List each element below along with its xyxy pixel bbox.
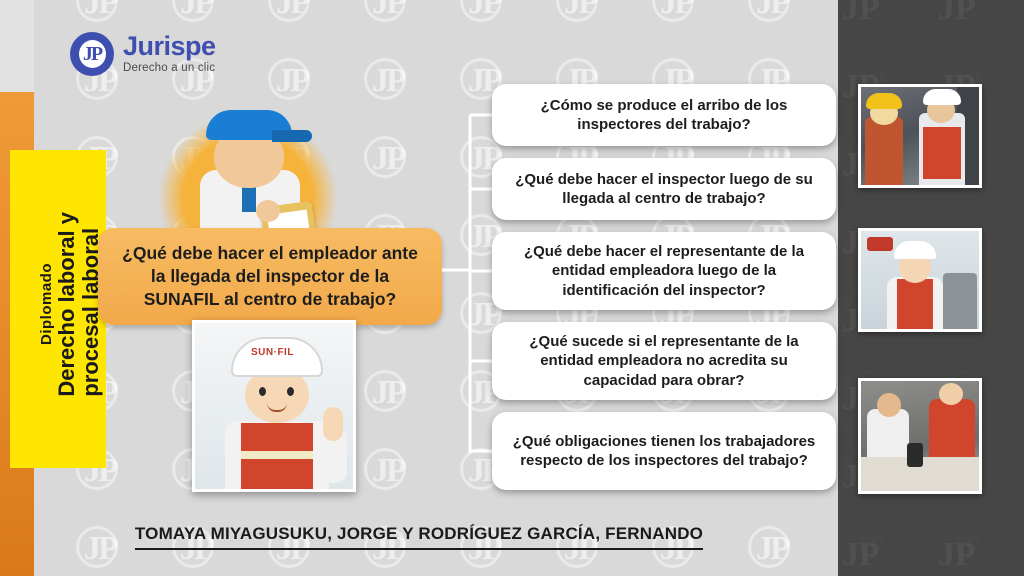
branch-box-1: ¿Cómo se produce el arribo de los inspec…: [492, 84, 836, 146]
photo-inspector-illustration: [858, 228, 982, 332]
brand-tagline: Derecho a un clic: [123, 63, 216, 75]
course-label-kicker: Diplomado: [38, 263, 55, 355]
center-photo-inspector: SUN·FIL: [192, 320, 356, 492]
branch-box-2: ¿Qué debe hacer el inspector luego de su…: [492, 158, 836, 220]
illustration-hand: [256, 200, 280, 222]
course-label-title: Derecho laboral yprocesal laboral: [55, 212, 103, 407]
course-line-1: Derecho laboral y: [54, 212, 79, 397]
branch-box-3: ¿Qué debe hacer el representante de la e…: [492, 232, 836, 310]
course-label: Derecho laboral yprocesal laboral Diplom…: [10, 150, 106, 468]
main-question-box: ¿Qué debe hacer el empleador ante la lle…: [98, 228, 442, 325]
illustration-cap-brim: [272, 130, 312, 142]
jurispe-monogram-icon: JP: [70, 32, 114, 76]
brand-name: Jurispe: [123, 33, 216, 60]
branch-box-4: ¿Qué sucede si el representante de la en…: [492, 322, 836, 400]
monogram-text: JP: [70, 32, 114, 76]
left-strip-top-cover: [0, 0, 34, 92]
brand-logo: JP Jurispe Derecho a un clic: [70, 32, 216, 76]
footer-authors: TOMAYA MIYAGUSUKU, JORGE Y RODRÍGUEZ GAR…: [135, 524, 703, 550]
footer: TOMAYA MIYAGUSUKU, JORGE Y RODRÍGUEZ GAR…: [0, 524, 838, 550]
helmet-label: SUN·FIL: [251, 347, 294, 358]
photo-inspectors-corridor: [858, 84, 982, 188]
photo-meeting-table: [858, 378, 982, 494]
branch-box-5: ¿Qué obligaciones tienen los trabajadore…: [492, 412, 836, 490]
